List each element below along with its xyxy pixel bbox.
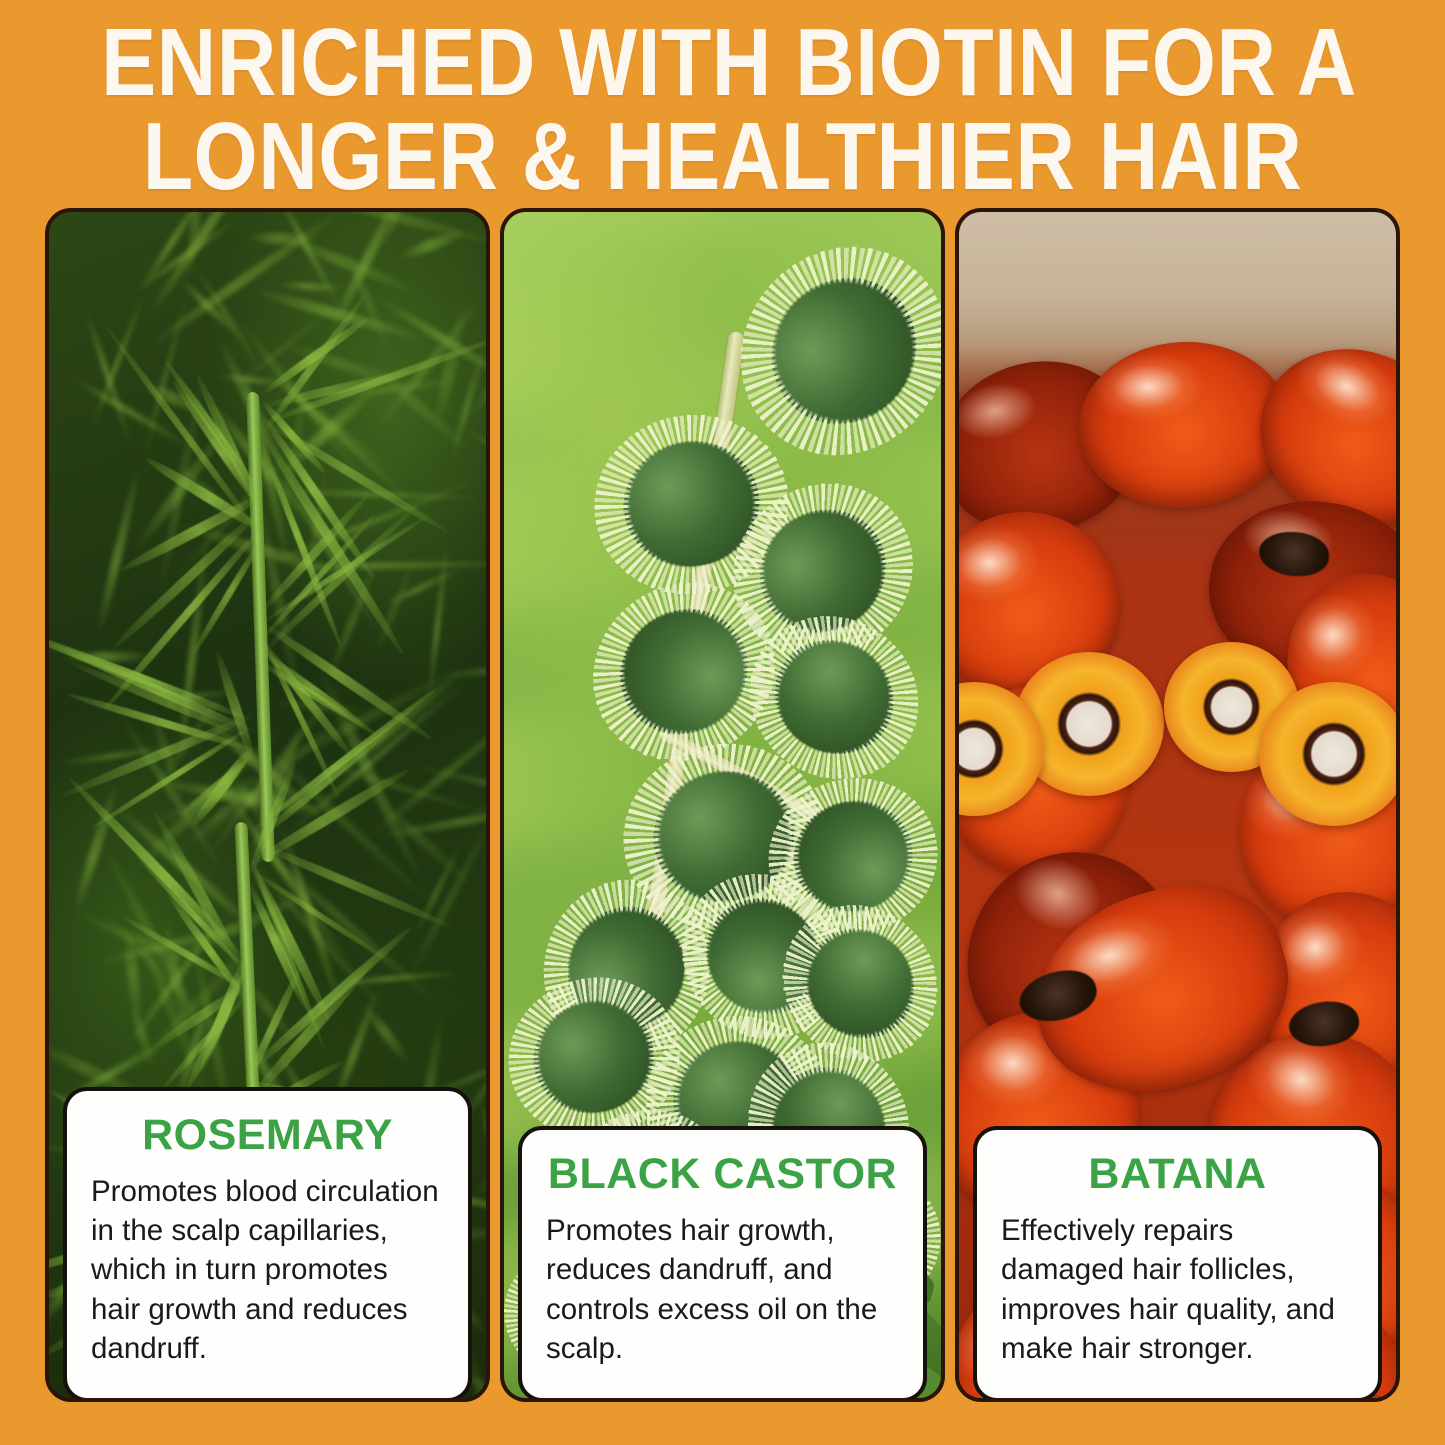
ingredient-description: Promotes hair growth, reduces dandruff, …	[542, 1211, 903, 1368]
info-card-black-castor: BLACK CASTOR Promotes hair growth, reduc…	[518, 1126, 927, 1402]
ingredient-title: BLACK CASTOR	[542, 1152, 903, 1197]
ingredient-title: ROSEMARY	[87, 1113, 448, 1158]
ingredient-title: BATANA	[997, 1152, 1358, 1197]
ingredient-panel-black-castor[interactable]: BLACK CASTOR Promotes hair growth, reduc…	[500, 208, 945, 1402]
headline: ENRICHED WITH BIOTIN FOR A LONGER & HEAL…	[0, 16, 1445, 204]
info-card-rosemary: ROSEMARY Promotes blood circulation in t…	[63, 1087, 472, 1402]
ingredient-panel-row: ROSEMARY Promotes blood circulation in t…	[45, 208, 1400, 1402]
ingredient-description: Effectively repairs damaged hair follicl…	[997, 1211, 1358, 1368]
headline-line-1: ENRICHED WITH BIOTIN FOR A	[101, 16, 1344, 110]
ingredient-panel-rosemary[interactable]: ROSEMARY Promotes blood circulation in t…	[45, 208, 490, 1402]
info-card-batana: BATANA Effectively repairs damaged hair …	[973, 1126, 1382, 1402]
headline-line-2: LONGER & HEALTHIER HAIR	[101, 110, 1344, 204]
ingredient-description: Promotes blood circulation in the scalp …	[87, 1172, 448, 1368]
ingredient-panel-batana[interactable]: BATANA Effectively repairs damaged hair …	[955, 208, 1400, 1402]
